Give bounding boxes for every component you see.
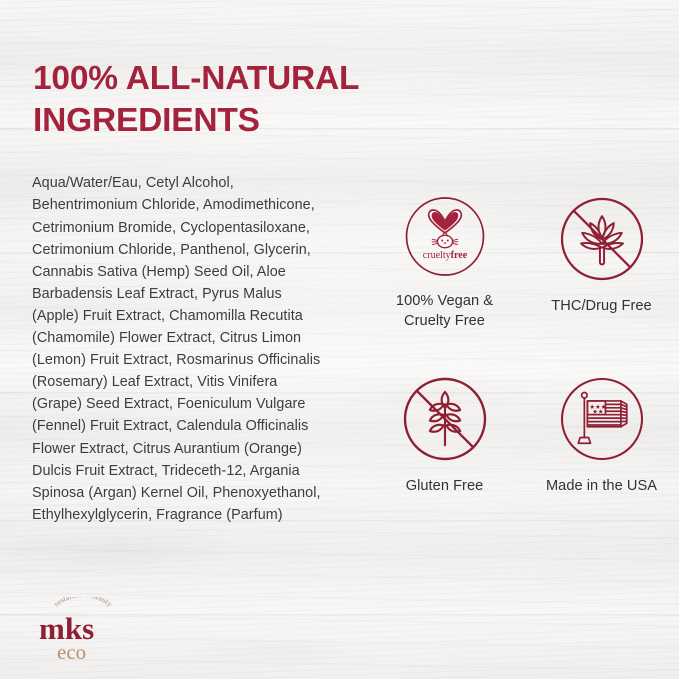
badge-gluten-free: Gluten Free (374, 376, 515, 511)
logo-tagline: sustainable beauty (52, 597, 113, 609)
cruelty-free-bunny-heart-icon: crueltyfree (402, 196, 488, 277)
no-cannabis-leaf-icon (559, 196, 645, 282)
brand-logo: sustainable beauty mks eco (33, 597, 163, 663)
cruelty-free-wordmark: crueltyfree (422, 250, 467, 261)
usa-flag-icon (559, 376, 645, 462)
badge-label-made-in-usa: Made in the USA (546, 477, 657, 497)
product-ingredients-infographic: 100% ALL-NATURAL INGREDIENTS Aqua/Water/… (0, 0, 679, 679)
badge-label-thc-drug-free: THC/Drug Free (551, 297, 651, 317)
badge-vegan-cruelty-free: crueltyfree 100% Vegan & Cruelty Free (374, 196, 515, 331)
badge-label-gluten-free: Gluten Free (406, 477, 484, 497)
no-wheat-icon (402, 376, 488, 462)
badge-label-vegan-cruelty-free: 100% Vegan & Cruelty Free (396, 292, 493, 331)
badge-made-in-usa: Made in the USA (531, 376, 672, 511)
ingredients-list-text: Aqua/Water/Eau, Cetyl Alcohol, Behentrim… (32, 172, 324, 526)
certification-badge-grid: crueltyfree 100% Vegan & Cruelty Free (358, 196, 658, 510)
badge-thc-drug-free: THC/Drug Free (531, 196, 672, 331)
logo-sub-brand-name: eco (57, 640, 86, 663)
page-title: 100% ALL-NATURAL INGREDIENTS (33, 58, 453, 142)
mks-eco-logo-mark: sustainable beauty mks eco (33, 597, 163, 663)
